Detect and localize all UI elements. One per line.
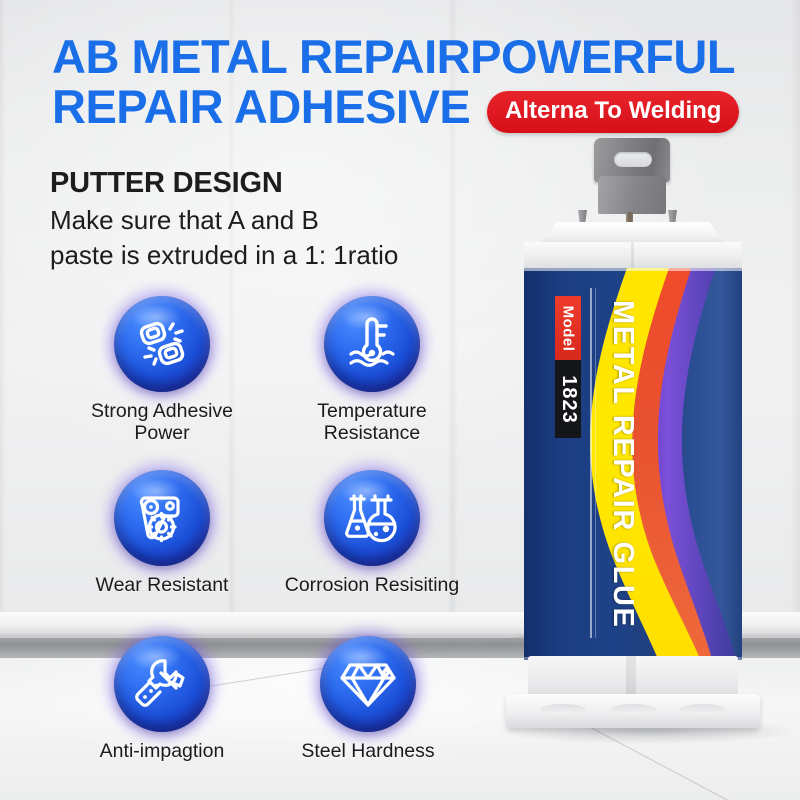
flange-dent bbox=[610, 704, 656, 715]
product-name-text: METAL REPAIR GLUE bbox=[599, 300, 639, 656]
cartridge-label: Model 1823 METAL REPAIR GLUE bbox=[524, 268, 742, 660]
orb-specular bbox=[336, 644, 388, 670]
feature-orb bbox=[114, 470, 210, 566]
model-label-box: Model bbox=[555, 296, 581, 360]
feature-label: Corrosion Resisiting bbox=[272, 575, 472, 597]
flange-dent bbox=[680, 704, 726, 715]
label-vertical-rule-thin bbox=[595, 288, 596, 638]
feature-orb bbox=[114, 636, 210, 732]
cartridge-collar bbox=[540, 222, 726, 244]
orb-specular bbox=[130, 304, 182, 330]
feature-strong-adhesive-power: Strong Adhesive Power bbox=[62, 296, 262, 445]
feature-orb bbox=[324, 470, 420, 566]
feature-label-line-1: Corrosion Resisiting bbox=[285, 574, 459, 596]
product-cartridge: Model 1823 METAL REPAIR GLUE bbox=[498, 138, 788, 738]
cartridge-shoulder-divider bbox=[631, 242, 634, 270]
feature-label-line-2: Resistance bbox=[324, 422, 420, 444]
flange-dent bbox=[540, 704, 586, 715]
feature-orb bbox=[324, 296, 420, 392]
product-marketing-banner: AB METAL REPAIRPOWERFUL REPAIR ADHESIVE … bbox=[0, 0, 800, 800]
feature-label: Steel Hardness bbox=[268, 741, 468, 763]
model-number-box: 1823 bbox=[555, 360, 581, 438]
alterna-to-welding-badge: Alterna To Welding bbox=[487, 91, 739, 133]
feature-steel-hardness: Steel Hardness bbox=[268, 636, 468, 763]
subtitle-line-1: Make sure that A and B bbox=[50, 205, 319, 236]
feature-label-line-2: Power bbox=[134, 422, 189, 444]
feature-wear-resistant: Wear Resistant bbox=[62, 470, 262, 597]
feature-label-line-1: Anti-impagtion bbox=[100, 740, 225, 762]
feature-label-line-1: Steel Hardness bbox=[301, 740, 434, 762]
feature-label: Temperature Resistance bbox=[272, 401, 472, 445]
subtitle-heading: PUTTER DESIGN bbox=[50, 167, 283, 200]
headline-line-1: AB METAL REPAIRPOWERFUL bbox=[52, 30, 735, 83]
label-top-rule bbox=[524, 268, 742, 271]
plunger-body bbox=[598, 176, 666, 214]
feature-anti-impaction: Anti-impagtion bbox=[62, 636, 262, 763]
feature-label: Strong Adhesive Power bbox=[62, 401, 262, 445]
model-label-text: Model bbox=[560, 305, 577, 351]
feature-temperature-resistance: Temperature Resistance bbox=[272, 296, 472, 445]
orb-specular bbox=[340, 304, 392, 330]
feature-corrosion-resisting: Corrosion Resisiting bbox=[272, 470, 472, 597]
feature-label-line-1: Strong Adhesive bbox=[91, 400, 233, 422]
feature-orb bbox=[114, 296, 210, 392]
model-number-text: 1823 bbox=[557, 375, 580, 424]
feature-label-line-1: Wear Resistant bbox=[96, 574, 229, 596]
feature-label: Anti-impagtion bbox=[62, 741, 262, 763]
feature-label: Wear Resistant bbox=[62, 575, 262, 597]
orb-specular bbox=[130, 644, 182, 670]
subtitle-line-2: paste is extruded in a 1: 1ratio bbox=[50, 240, 398, 271]
label-vertical-rule bbox=[590, 288, 592, 638]
feature-label-line-1: Temperature bbox=[317, 400, 426, 422]
orb-specular bbox=[340, 478, 392, 504]
orb-specular bbox=[130, 478, 182, 504]
feature-orb bbox=[320, 636, 416, 732]
plunger-slot bbox=[614, 152, 652, 167]
